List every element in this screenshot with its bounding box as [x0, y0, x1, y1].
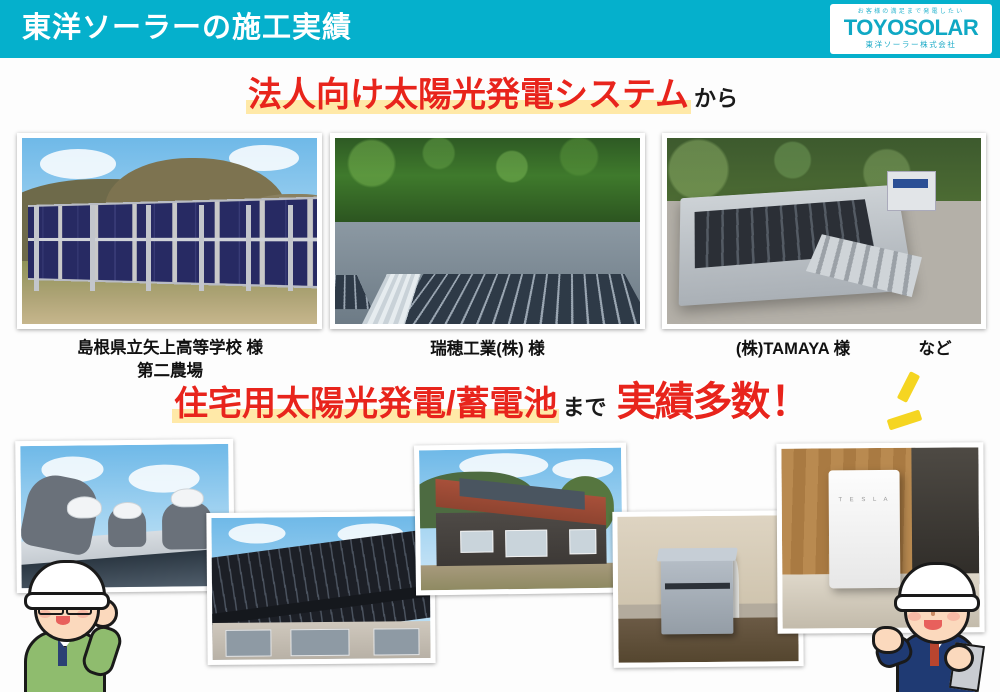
logo-company-name: 東洋ソーラー株式会社 — [866, 40, 957, 50]
caption-etc: など — [905, 338, 965, 361]
headline-corporate: 法人向け太陽光発電システムから — [246, 78, 738, 112]
logo-brand: TOYOSOLAR — [844, 16, 978, 40]
photo-aerial-factory-solar — [662, 133, 986, 329]
photo-school-farm-fence — [17, 133, 322, 329]
photo-factory-rooftop-array — [330, 133, 645, 329]
photo-residential-roof-panels — [206, 511, 435, 665]
caption-mizuho: 瑞穂工業(株) 様 — [335, 338, 640, 361]
headline-corporate-highlight: 法人向け太陽光発電システム — [246, 76, 691, 114]
headline-residential-highlight: 住宅用太陽光発電/蓄電池 — [172, 385, 559, 423]
powerwall-brand-label: T E S L A — [837, 497, 892, 503]
headline-residential-bang: ！ — [770, 380, 808, 424]
company-logo: お客様の満足まで発電したい TOYOSOLAR 東洋ソーラー株式会社 — [830, 4, 992, 54]
headline-residential-emphasis: 実績多数 — [616, 380, 768, 424]
spark-mark-upper-icon — [897, 371, 920, 403]
header-bar: 東洋ソーラーの施工実績 お客様の満足まで発電したい TOYOSOLAR 東洋ソー… — [0, 0, 1000, 58]
photo-house-with-solar — [414, 443, 628, 596]
headline-residential-middle: まで — [562, 395, 606, 420]
caption-tamaya-line1: (株)TAMAYA 様 — [668, 338, 918, 361]
mascot-worker-left — [14, 552, 122, 692]
page-title: 東洋ソーラーの施工実績 — [22, 9, 352, 47]
spark-mark-lower-icon — [887, 410, 923, 431]
headline-corporate-suffix: から — [694, 86, 738, 111]
photo-storage-battery-unit — [612, 510, 803, 668]
caption-tamaya: (株)TAMAYA 様 — [668, 338, 918, 361]
slide-root: 東洋ソーラーの施工実績 お客様の満足まで発電したい TOYOSOLAR 東洋ソー… — [0, 0, 1000, 692]
caption-school-line1: 島根県立矢上高等学校 様 — [20, 337, 320, 360]
caption-mizuho-line1: 瑞穂工業(株) 様 — [335, 338, 640, 361]
headline-residential: 住宅用太陽光発電/蓄電池まで実績多数！ — [172, 382, 808, 422]
caption-school-line2: 第二農場 — [20, 360, 320, 383]
mascot-manager-right — [878, 552, 988, 692]
caption-school: 島根県立矢上高等学校 様 第二農場 — [20, 337, 320, 383]
